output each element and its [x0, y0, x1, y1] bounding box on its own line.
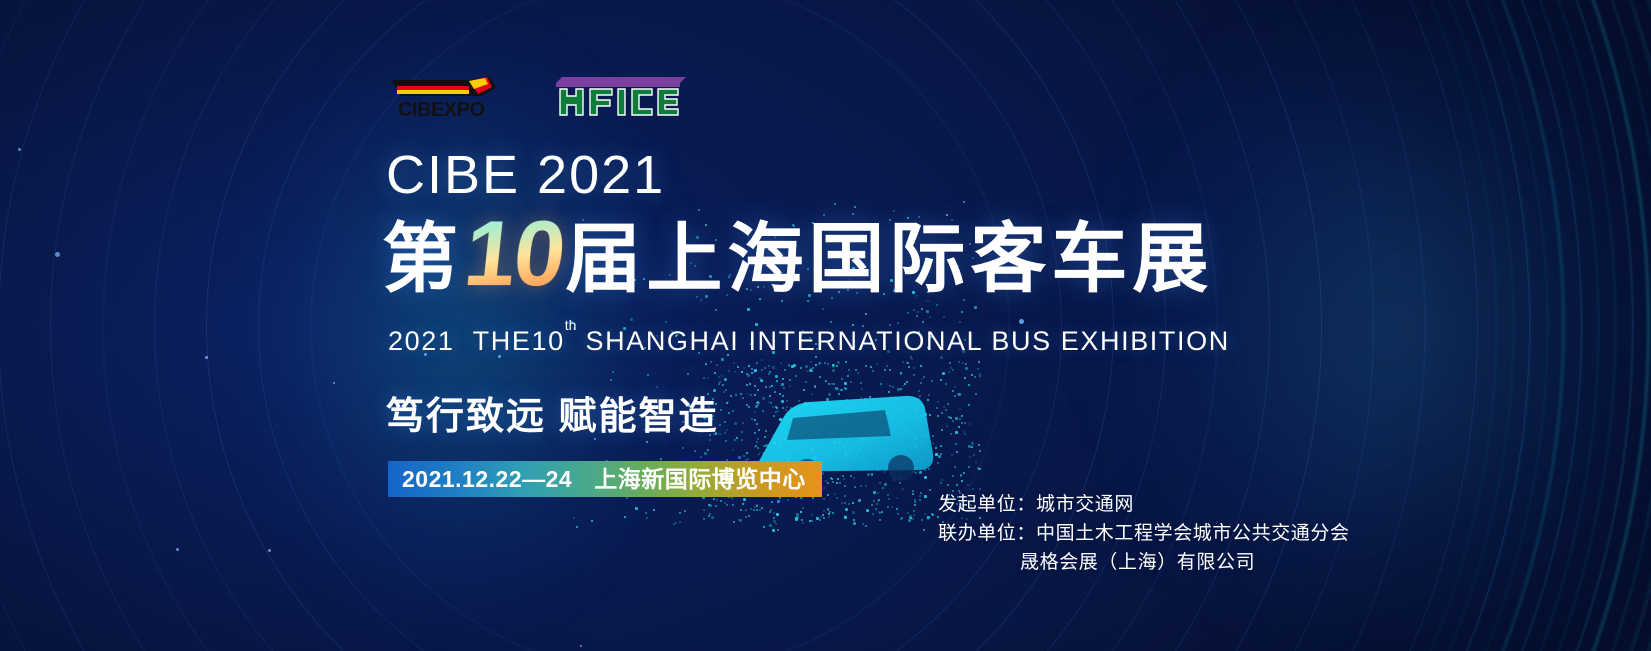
organizer-line-1: 发起单位：城市交通网	[938, 490, 1350, 519]
hficie-logo[interactable]	[550, 77, 686, 121]
cibexpo-logo[interactable]: CIBEXPO	[386, 74, 502, 124]
english-subtitle: 2021 THE10th SHANGHAI INTERNATIONAL BUS …	[388, 328, 1230, 355]
headline-suffix: 届上海国际客车展	[565, 222, 1213, 298]
event-date: 2021.12.22—24	[402, 468, 572, 491]
subtitle-rest: SHANGHAI INTERNATIONAL BUS EXHIBITION	[586, 326, 1230, 356]
event-venue: 上海新国际博览中心	[594, 468, 806, 491]
subtitle-ordinal: th	[565, 317, 577, 333]
organizer-credits: 发起单位：城市交通网 联办单位：中国土木工程学会城市公共交通分会 晟格会展（上海…	[938, 490, 1350, 577]
subtitle-year: 2021	[388, 326, 454, 356]
date-venue-bar: 2021.12.22—24 上海新国际博览中心	[388, 461, 822, 497]
subtitle-the10: THE10	[473, 326, 565, 356]
organizer-line-3: 晟格会展（上海）有限公司	[938, 548, 1350, 577]
exhibition-banner: CIBEXPO CIBE 20	[0, 0, 1651, 651]
headline-prefix: 第	[382, 222, 463, 298]
page-title: CIBE 2021	[386, 148, 665, 202]
svg-text:CIBEXPO: CIBEXPO	[398, 99, 485, 121]
slogan-text: 笃行致远 赋能智造	[386, 398, 719, 436]
chinese-headline: 第 10 届上海国际客车展	[382, 222, 1213, 298]
edition-number: 10	[461, 212, 568, 297]
logo-row: CIBEXPO	[386, 74, 686, 124]
organizer-line-2: 联办单位：中国土木工程学会城市公共交通分会	[938, 519, 1350, 548]
